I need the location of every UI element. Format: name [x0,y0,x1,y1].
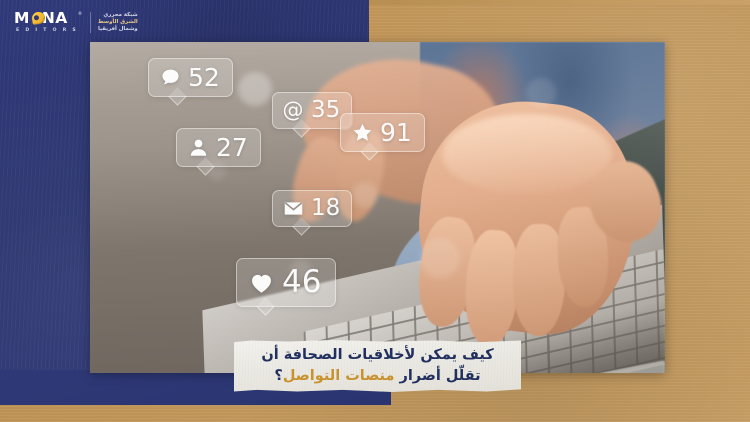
tagline-line-2: الشرق الأوسط [98,19,138,26]
bokeh-light-3 [420,238,460,278]
title-line-1: كيف يمكن لأخلاقيات الصحافة أن [261,346,493,365]
title-line-2-suffix: ؟ [274,368,282,384]
bokeh-light-1 [238,72,272,106]
badge-count: 35 [311,98,340,123]
notification-badge-favorites: 91 [340,113,425,152]
title-line-2: تقلّل أضرار منصات التواصل؟ [274,367,480,386]
bokeh-light-2 [352,182,378,208]
right-hand-highlight [442,114,612,194]
logo-wordmark: MNA [14,10,84,27]
heart-icon [248,269,275,296]
envelope-icon [282,198,304,220]
logo-tagline-arabic: شبكة محرري الشرق الأوسط وشمال أفريقيا [98,12,138,34]
notification-badge-comments: 52 [148,58,233,97]
tagline-line-1: شبكة محرري [98,12,138,19]
star-icon [351,122,373,144]
notification-badge-followers: 27 [176,128,261,167]
comment-icon [159,67,181,89]
title-line-2-highlight: منصات التواصل [283,368,395,384]
user-icon [187,137,209,159]
logo-mark: MNA ® E D I T O R S [14,10,84,36]
logo-word-prefix: M [14,9,30,27]
logo-trademark: ® [78,11,82,16]
notification-badge-messages: 18 [272,190,352,227]
badge-count: 27 [216,135,248,160]
notification-badge-likes: 46 [236,258,336,307]
logo-word-suffix: NA [42,9,68,27]
badge-count: 91 [380,120,412,145]
badge-count: 18 [311,196,340,221]
badge-count: 52 [188,65,220,90]
logo-subtitle: E D I T O R S [16,28,84,34]
title-line-2-prefix: تقلّل أضرار [394,368,480,384]
title-banner: كيف يمكن لأخلاقيات الصحافة أن تقلّل أضرا… [234,340,521,392]
bokeh-light-4 [526,78,556,108]
poster-canvas: MNA ® E D I T O R S شبكة محرري الشرق الأ… [0,0,750,422]
logo-divider [90,12,91,33]
badge-count: 46 [282,267,321,298]
brand-logo[interactable]: MNA ® E D I T O R S شبكة محرري الشرق الأ… [14,9,134,36]
tagline-line-3: وشمال أفريقيا [98,26,138,33]
gold-top-strip [369,0,750,5]
